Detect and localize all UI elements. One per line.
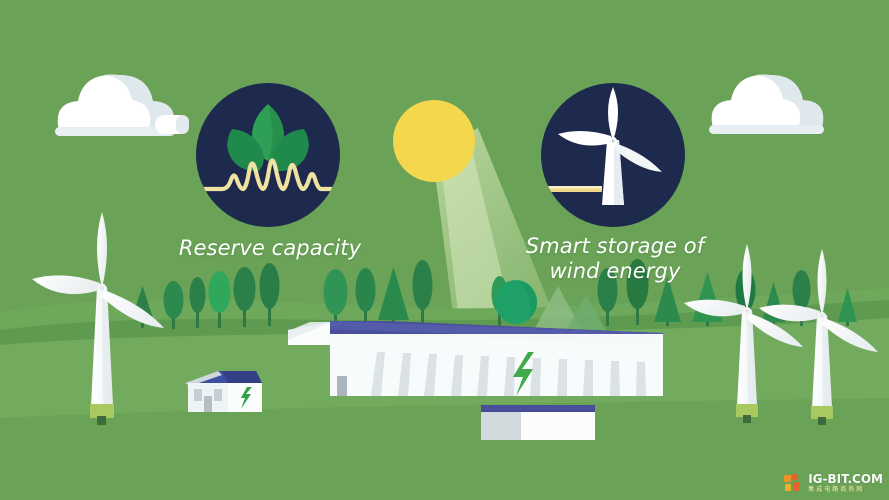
watermark-subtitle: 集成电路商务网 (808, 487, 883, 493)
scene-illustration (0, 0, 889, 500)
watermark-title: IG-BIT.COM (808, 473, 883, 485)
storage-facility (288, 321, 663, 396)
label-reserve-capacity: Reserve capacity (160, 236, 380, 261)
front-platform (481, 405, 595, 440)
reserve-capacity-icon[interactable] (196, 83, 340, 227)
ig-bit-watermark: IG-BIT.COM 集成电路商务网 (783, 471, 883, 495)
watermark-text: IG-BIT.COM 集成电路商务网 (808, 473, 883, 493)
label-smart-storage: Smart storage of wind energy (500, 234, 730, 284)
illustration-root: Reserve capacity Smart storage of wind e… (0, 0, 889, 500)
cloud-left-small (155, 115, 189, 134)
smart-storage-icon[interactable] (541, 83, 685, 227)
sun (393, 100, 475, 182)
watermark-logo-icon (783, 473, 805, 493)
